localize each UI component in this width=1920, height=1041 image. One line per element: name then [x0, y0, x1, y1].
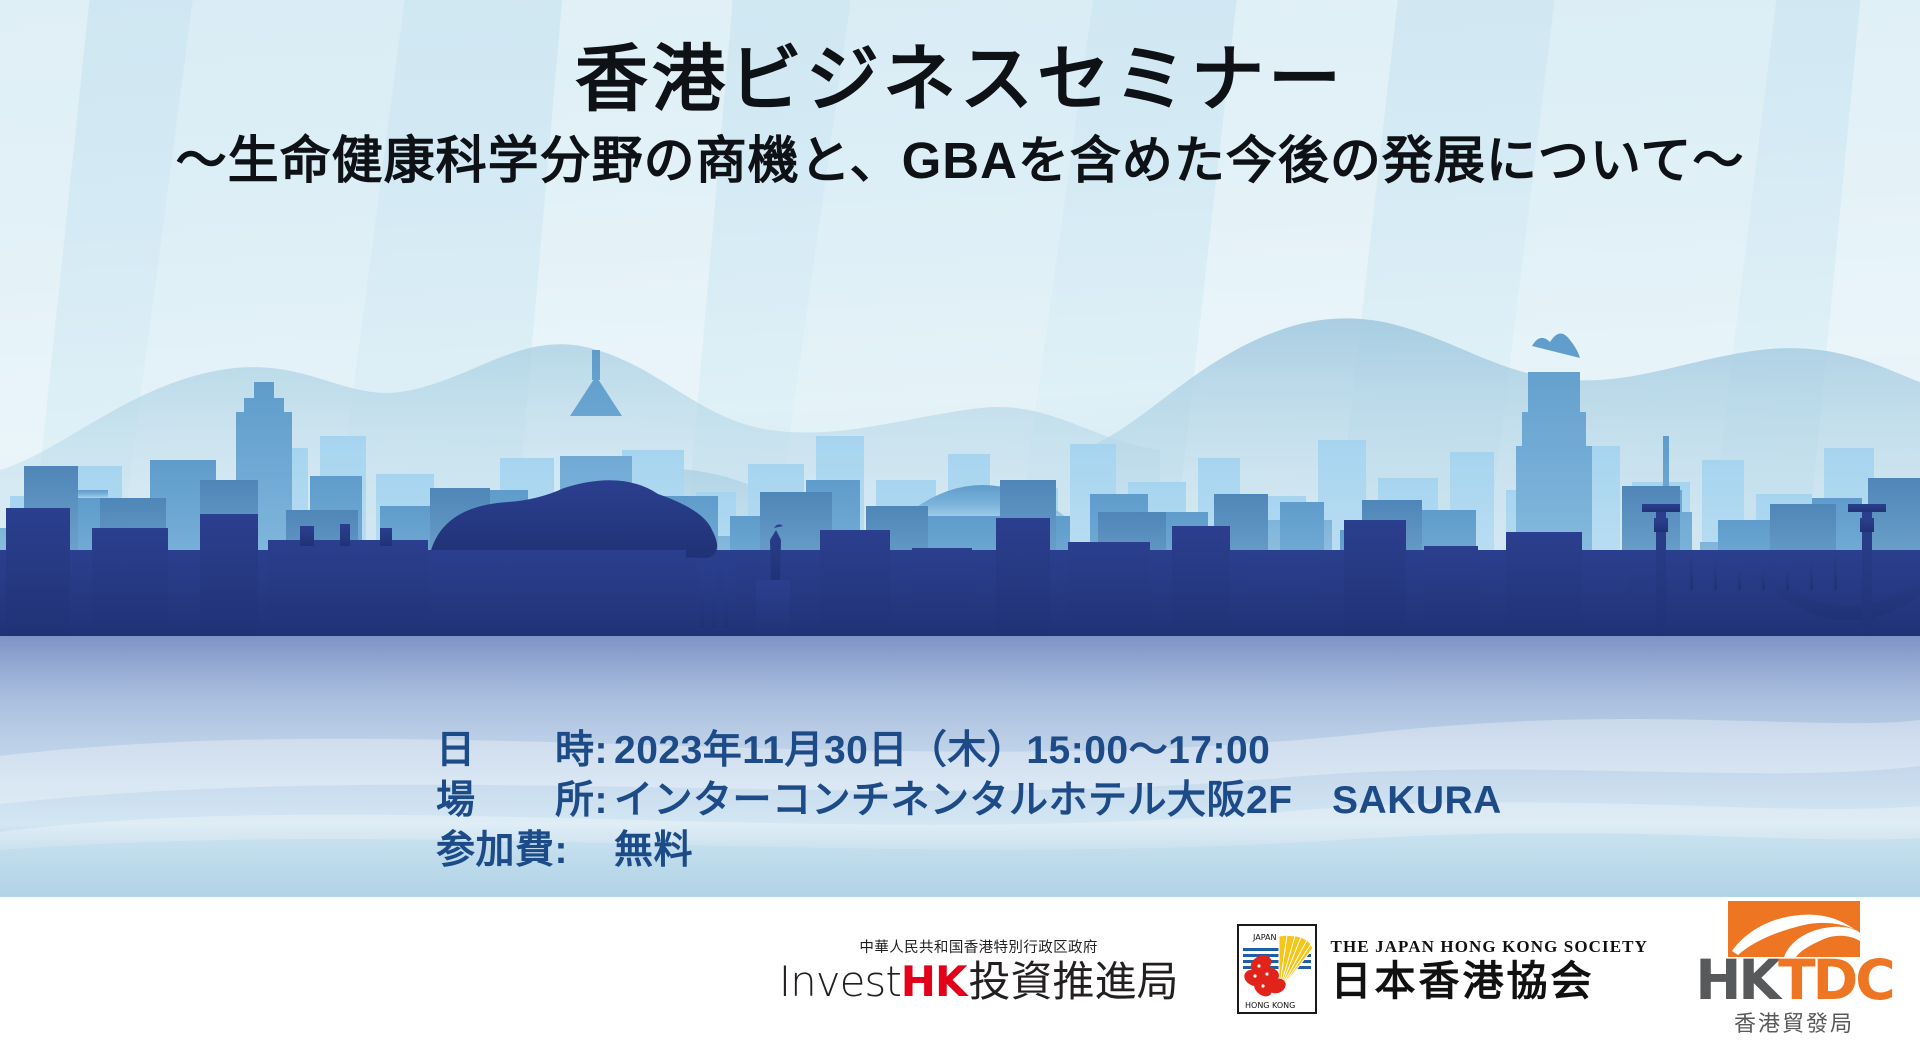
- detail-label-venue-a: 場: [436, 776, 476, 826]
- seminar-poster: 香港ビジネスセミナー ～生命健康科学分野の商機と、GBAを含めた今後の発展につい…: [0, 0, 1920, 1041]
- detail-label-date-a: 日: [436, 726, 476, 776]
- detail-label-fee: 参加費:: [436, 826, 608, 876]
- detail-label-venue: 場 所:: [436, 776, 608, 826]
- sponsor-logo-bar: 中華人民共和国香港特別行政区政府 Invest HK 投資推進局: [0, 897, 1920, 1041]
- japan-hongkong-society-logo: JAPAN HONG KONG THE JAPAN HONG KONG SOCI…: [1237, 924, 1648, 1014]
- hktdc-logo: HK TDC 香港貿發局: [1706, 901, 1882, 1038]
- jhks-japanese-name: 日本香港協会: [1331, 961, 1648, 1002]
- detail-value-date: 2023年11月30日（木）15:00〜17:00: [614, 726, 1270, 776]
- page-title: 香港ビジネスセミナー: [0, 42, 1920, 118]
- hktdc-tdc-text: TDC: [1778, 953, 1893, 1008]
- detail-label-venue-b: 所:: [555, 776, 608, 826]
- jhks-emblem-icon: JAPAN HONG KONG: [1237, 924, 1317, 1014]
- investhk-hk-text: HK: [901, 961, 967, 1003]
- investhk-invest-text: Invest: [779, 961, 901, 1003]
- detail-label-date: 日 時:: [436, 726, 608, 776]
- detail-value-fee: 無料: [614, 826, 693, 876]
- investhk-wordmark: Invest HK 投資推進局: [779, 961, 1179, 1003]
- page-subtitle: ～生命健康科学分野の商機と、GBAを含めた今後の発展について～: [0, 134, 1920, 188]
- hktdc-swoosh-icon: [1728, 901, 1860, 957]
- detail-row-fee: 参加費: 無料: [436, 826, 1502, 876]
- detail-value-venue: インターコンチネンタルホテル大阪2F SAKURA: [614, 776, 1502, 826]
- investhk-japanese-text: 投資推進局: [969, 961, 1179, 1003]
- skyline-front-silhouette: [0, 400, 1920, 640]
- detail-row-venue: 場 所: インターコンチネンタルホテル大阪2F SAKURA: [436, 776, 1502, 826]
- detail-label-fee-a: 参加費:: [436, 826, 568, 876]
- jhks-emblem-top-label: JAPAN: [1252, 933, 1276, 942]
- hktdc-swoosh-shape: [1728, 901, 1860, 957]
- detail-label-date-b: 時:: [555, 726, 608, 776]
- jhks-wordmark: THE JAPAN HONG KONG SOCIETY 日本香港協会: [1331, 937, 1648, 1002]
- investhk-logo: 中華人民共和国香港特別行政区政府 Invest HK 投資推進局: [779, 936, 1179, 1003]
- jhks-fan-flower-icon: JAPAN HONG KONG: [1239, 926, 1315, 1012]
- hktdc-wordmark: HK TDC: [1695, 953, 1892, 1008]
- hktdc-hk-text: HK: [1695, 953, 1778, 1008]
- detail-row-date: 日 時: 2023年11月30日（木）15:00〜17:00: [436, 726, 1502, 776]
- title-block: 香港ビジネスセミナー ～生命健康科学分野の商機と、GBAを含めた今後の発展につい…: [0, 42, 1920, 187]
- jhks-english-name: THE JAPAN HONG KONG SOCIETY: [1331, 937, 1648, 957]
- jhks-emblem-bottom-label: HONG KONG: [1245, 1001, 1295, 1010]
- event-details: 日 時: 2023年11月30日（木）15:00〜17:00 場 所: インター…: [436, 726, 1502, 876]
- hktdc-chinese-name: 香港貿發局: [1734, 1006, 1854, 1038]
- investhk-government-line: 中華人民共和国香港特別行政区政府: [859, 936, 1097, 957]
